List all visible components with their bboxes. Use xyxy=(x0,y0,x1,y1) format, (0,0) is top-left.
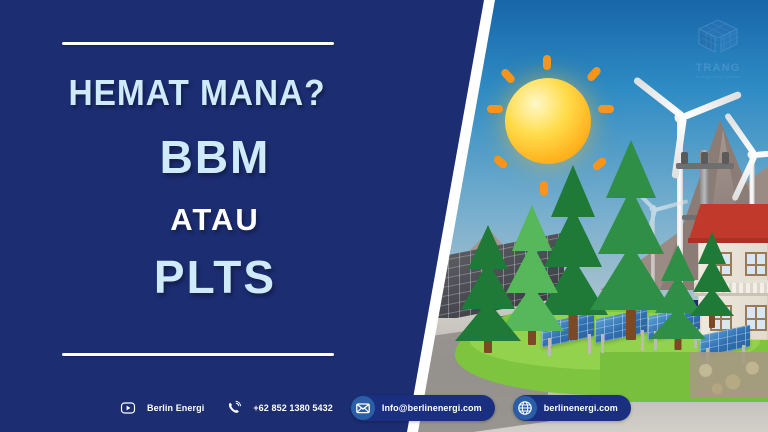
envelope-icon xyxy=(351,396,375,420)
contact-phone-label: +62 852 1380 5432 xyxy=(253,403,333,413)
contact-youtube-label: Berlin Energi xyxy=(147,403,204,413)
pole-insulator xyxy=(722,152,729,164)
globe-icon xyxy=(513,396,537,420)
headline-line-4: PLTS xyxy=(0,250,430,304)
promotional-banner: HEMAT MANA? BBM ATAU PLTS TRANG Energy P… xyxy=(0,0,768,432)
sun-ray-icon xyxy=(598,105,614,113)
headline-line-1: HEMAT MANA? xyxy=(0,72,397,114)
headline-block: HEMAT MANA? BBM ATAU PLTS xyxy=(0,0,430,432)
headline-line-2: BBM xyxy=(0,130,430,184)
headline-line-3: ATAU xyxy=(0,202,430,238)
sun-ray-icon xyxy=(543,55,551,70)
phone-ring-icon xyxy=(222,396,246,420)
contact-website[interactable]: berlinenergi.com xyxy=(513,395,631,421)
pine-tree xyxy=(455,225,521,353)
watermark-name: TRANG xyxy=(695,62,740,74)
sun-ray-icon xyxy=(487,105,503,113)
contact-youtube[interactable]: Berlin Energi xyxy=(116,395,204,421)
sun-icon xyxy=(505,78,591,164)
contact-phone[interactable]: +62 852 1380 5432 xyxy=(222,395,333,421)
contact-website-label: berlinenergi.com xyxy=(544,403,618,413)
watermark-tagline: Energy Plan System xyxy=(696,74,739,79)
pole-insulator xyxy=(681,152,688,164)
youtube-play-icon xyxy=(116,396,140,420)
watermark-logo: TRANG Energy Plan System xyxy=(686,18,750,92)
pole-insulator xyxy=(701,152,708,164)
footer-contact-bar: Berlin Energi +62 852 1380 5432 Info xyxy=(0,384,768,432)
bottom-rule-divider xyxy=(62,353,334,356)
top-rule-divider xyxy=(62,42,334,45)
solar-panel-cube-logo-icon xyxy=(695,18,741,60)
contact-email-label: Info@berlinenergi.com xyxy=(382,403,482,413)
house-window xyxy=(745,252,767,276)
contact-email[interactable]: Info@berlinenergi.com xyxy=(351,395,495,421)
pine-tree xyxy=(690,232,734,328)
